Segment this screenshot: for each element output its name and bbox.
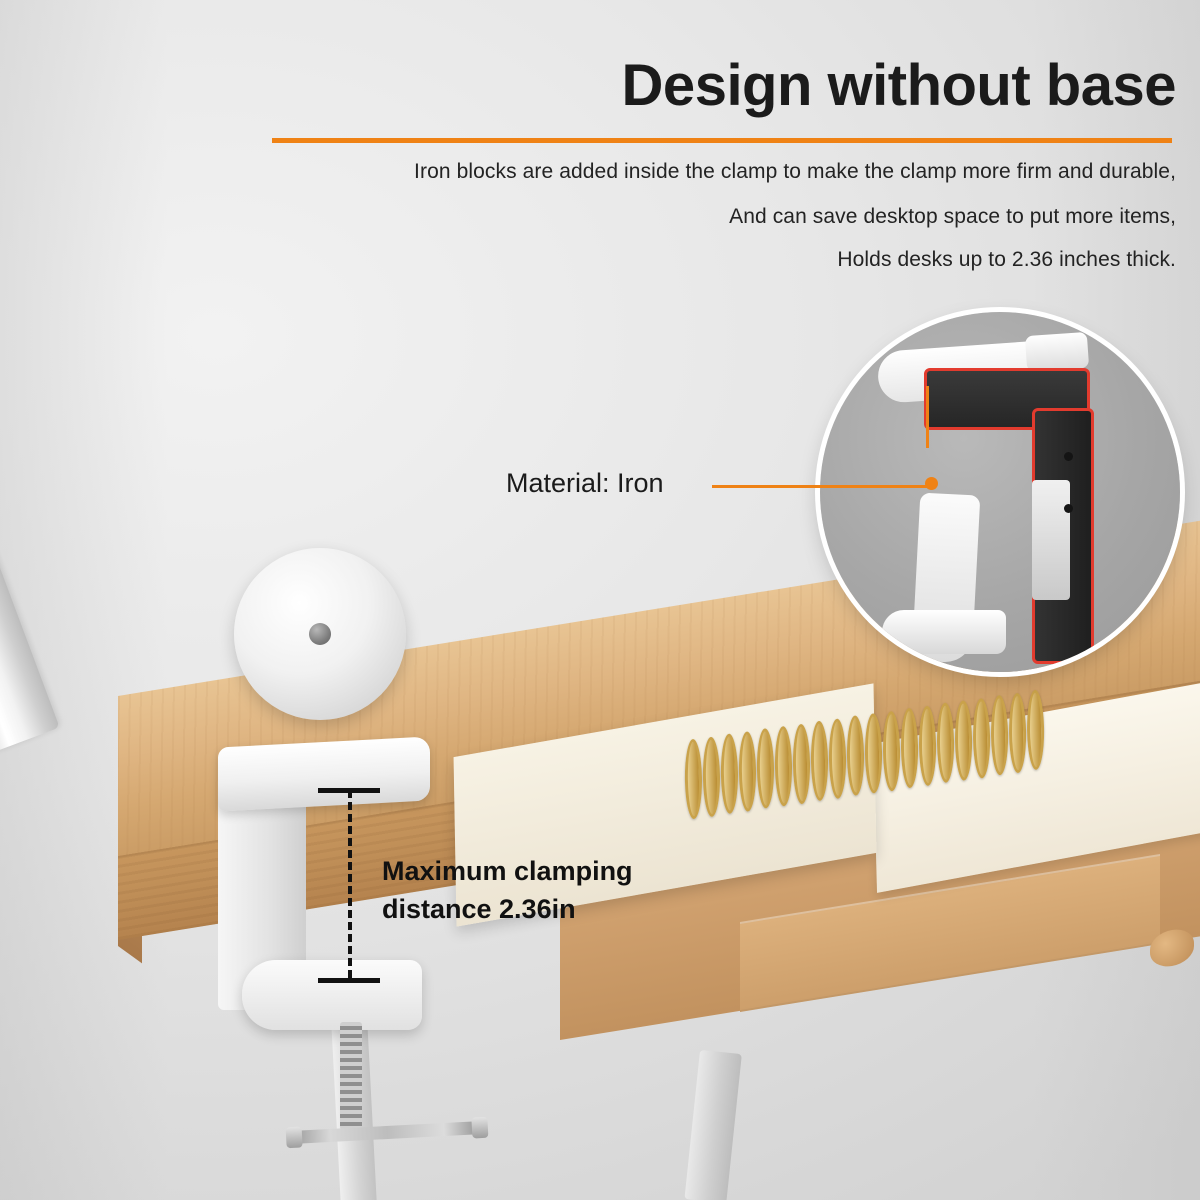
notebook-spiral-ring (774, 725, 792, 808)
clamp-lower-jaw (242, 960, 422, 1030)
material-callout-label: Material: Iron (506, 468, 664, 499)
notebook-spiral-ring (918, 704, 936, 787)
dimension-bottom-tick (318, 978, 380, 983)
lamp-joint (234, 548, 406, 720)
title-underline-rule (272, 138, 1172, 143)
material-callout-line (712, 485, 934, 488)
product-image-canvas: Maximum clamping distance 2.36in Materia… (0, 0, 1200, 1200)
notebook-spiral-ring (738, 730, 756, 813)
clamp-upper-jaw (218, 736, 430, 811)
notebook-spiral-ring (756, 727, 774, 810)
notebook-spiral-ring (720, 733, 738, 816)
desk-leg-right (684, 1050, 741, 1200)
clamping-distance-line1: Maximum clamping (382, 852, 633, 890)
inset-screw-dot-2 (1064, 504, 1073, 513)
notebook-spiral-ring (864, 712, 882, 795)
inset-callout-stem (926, 386, 929, 448)
notebook-spiral-ring (846, 715, 864, 798)
notebook-spiral-ring (936, 702, 954, 785)
inset-clamp-tip (1025, 332, 1089, 372)
subtitle-line-1: Iron blocks are added inside the clamp t… (414, 160, 1176, 184)
dimension-dashed-line (348, 790, 352, 978)
subtitle-line-3: Holds desks up to 2.36 inches thick. (837, 248, 1176, 272)
notebook-spiral-ring (792, 722, 810, 805)
inset-screw-dot-1 (1064, 452, 1073, 461)
notebook-spiral-ring (684, 738, 702, 821)
clamping-distance-callout: Maximum clamping distance 2.36in (382, 852, 633, 929)
inset-iron-block (1032, 480, 1070, 600)
page-title: Design without base (622, 52, 1176, 119)
subtitle-line-2: And can save desktop space to put more i… (729, 205, 1176, 229)
notebook-spiral-ring (828, 717, 846, 800)
notebook-spiral-ring (900, 707, 918, 790)
notebook-spiral-ring (1008, 691, 1026, 774)
clamping-distance-line2: distance 2.36in (382, 890, 633, 928)
notebook-spiral-ring (1026, 689, 1044, 772)
notebook-spiral-ring (882, 709, 900, 792)
clamp-screw (340, 1022, 362, 1130)
notebook-spiral-ring (954, 699, 972, 782)
clamp-cutaway-inset (820, 312, 1180, 672)
notebook-spiral-ring (990, 694, 1008, 777)
notebook-spiral-ring (702, 735, 720, 818)
material-callout-dot (925, 477, 938, 490)
inset-clamp-foot (882, 610, 1006, 654)
notebook-spiral-ring (810, 720, 828, 803)
notebook-spiral-ring (972, 697, 990, 780)
